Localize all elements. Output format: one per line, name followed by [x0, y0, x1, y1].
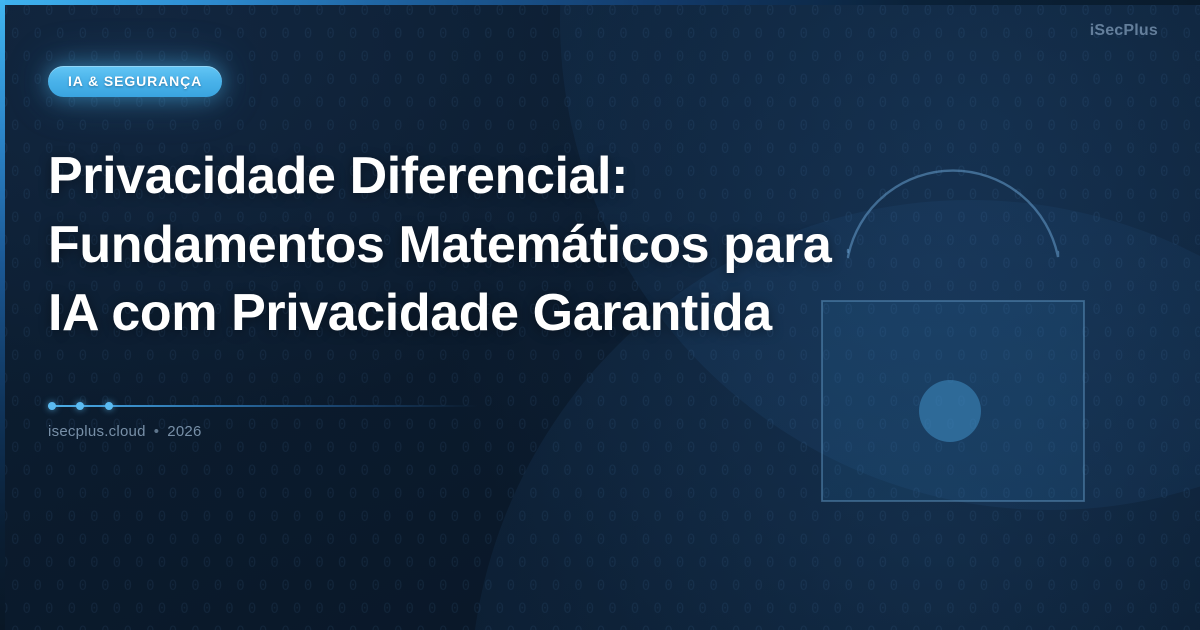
divider: [48, 401, 478, 411]
divider-dot-3: [105, 402, 113, 410]
social-card: 0000000000000000000000000000000000000000…: [0, 0, 1200, 630]
footer-separator: •: [154, 423, 160, 440]
footer-meta: isecplus.cloud•2026: [48, 423, 848, 440]
divider-dot-2: [76, 402, 84, 410]
title-line-2: Fundamentos Matemáticos para: [48, 216, 831, 274]
title-line-1: Privacidade Diferencial:: [48, 147, 628, 205]
page-title: Privacidade Diferencial: Fundamentos Mat…: [48, 142, 838, 348]
footer-site: isecplus.cloud: [48, 423, 146, 440]
brand-logo: iSecPlus: [1090, 22, 1158, 40]
divider-dot-1: [48, 402, 56, 410]
left-accent-bar: [0, 0, 5, 630]
content-column: IA & SEGURANÇA Privacidade Diferencial: …: [48, 66, 848, 440]
top-accent-bar: [0, 0, 1200, 5]
title-line-3: IA com Privacidade Garantida: [48, 284, 772, 342]
footer-year: 2026: [167, 423, 201, 440]
category-badge[interactable]: IA & SEGURANÇA: [48, 66, 222, 97]
